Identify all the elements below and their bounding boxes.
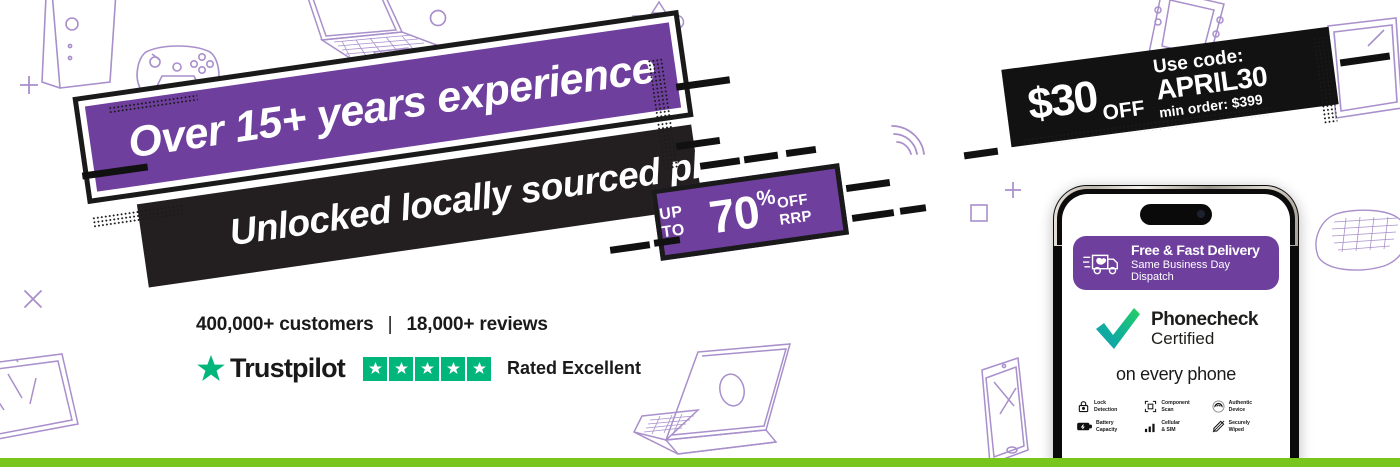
fingerprint-icon: [1212, 400, 1225, 413]
feature-grid: LockDetection ComponentScan AuthenticDev…: [1073, 400, 1279, 433]
plus-mark-doodle: [1003, 180, 1023, 200]
feature-label: LockDetection: [1094, 400, 1117, 413]
feature-item: LockDetection: [1077, 400, 1140, 413]
feature-label: ComponentScan: [1161, 400, 1189, 413]
coupon-off-label: OFF: [1101, 97, 1146, 126]
trustpilot-star-icon: [196, 354, 226, 384]
phone-screen: Free & Fast Delivery Same Business Day D…: [1062, 194, 1290, 467]
smartphone-doodle: [974, 354, 1030, 467]
phonecheck-tick-icon: [1094, 307, 1142, 351]
dash-accent: [852, 209, 895, 222]
feature-item: ComponentScan: [1144, 400, 1207, 413]
trustpilot-rating-text: Rated Excellent: [507, 358, 641, 379]
star-filled: [441, 357, 465, 381]
signal-bars-icon: [1144, 421, 1157, 433]
discount-up-to: UP TO: [658, 200, 709, 242]
discount-number: 70: [706, 188, 761, 240]
circle-doodle: [428, 8, 448, 28]
keyboard-doodle: [1302, 196, 1400, 292]
star-filled: [415, 357, 439, 381]
coupon-code-block: Use code: APRIL30 min order: $399: [1152, 43, 1271, 119]
component-scan-icon: [1144, 400, 1157, 413]
x-mark-doodle: [22, 288, 44, 310]
phonecheck-tagline: on every phone: [1073, 364, 1279, 385]
battery-icon: [1077, 421, 1092, 432]
trustpilot-star-rating: [363, 357, 491, 381]
dash-accent: [900, 204, 927, 215]
trust-stats: 400,000+ customers | 18,000+ reviews: [196, 314, 641, 336]
feature-label: SecurelyWiped: [1229, 420, 1250, 433]
phonecheck-text: Phonecheck Certified: [1151, 310, 1258, 349]
star-filled: [389, 357, 413, 381]
bottom-green-rule: [0, 458, 1400, 467]
stats-separator: |: [388, 314, 393, 335]
delivery-truck-australia-icon: [1083, 249, 1123, 277]
delivery-subtitle: Same Business Day Dispatch: [1131, 259, 1269, 284]
phonecheck-brand: Phonecheck: [1151, 310, 1258, 330]
coupon-amount: $30: [1025, 75, 1099, 128]
delivery-badge: Free & Fast Delivery Same Business Day D…: [1073, 236, 1279, 290]
headline-group: Over 15+ years experience Unlocked local…: [78, 52, 698, 292]
dynamic-island: [1140, 204, 1212, 225]
feature-label: Cellular& SIM: [1161, 420, 1180, 433]
dash-accent: [964, 148, 999, 160]
feature-item: Cellular& SIM: [1144, 420, 1207, 433]
coupon-badge: $30 OFF Use code: APRIL30 min order: $39…: [1001, 27, 1338, 147]
trustpilot-row: Trustpilot Rated Excellent: [196, 353, 641, 384]
feature-item: AuthenticDevice: [1212, 400, 1275, 413]
delivery-title: Free & Fast Delivery: [1131, 243, 1269, 259]
tablet-doodle: [0, 352, 84, 457]
discount-percent: %: [755, 185, 777, 211]
review-count: 18,000+ reviews: [407, 314, 548, 335]
front-camera-icon: [1197, 210, 1205, 218]
open-laptop-doodle: [620, 338, 820, 462]
phonecheck-status: Certified: [1151, 330, 1258, 349]
dash-accent: [846, 179, 891, 192]
phone-frame: Free & Fast Delivery Same Business Day D…: [1053, 185, 1299, 467]
feature-label: BatteryCapacity: [1096, 420, 1117, 433]
customer-count: 400,000+ customers: [196, 314, 374, 335]
plus-mark-doodle: [18, 74, 40, 96]
phonecheck-row: Phonecheck Certified: [1073, 307, 1279, 351]
feature-item: SecurelyWiped: [1212, 420, 1275, 433]
star-filled: [467, 357, 491, 381]
dash-accent: [1340, 53, 1390, 67]
square-doodle: [968, 202, 990, 224]
discount-off-rrp: OFF RRP: [776, 187, 842, 229]
trust-block: 400,000+ customers | 18,000+ reviews Tru…: [196, 314, 641, 384]
feature-item: BatteryCapacity: [1077, 420, 1140, 433]
wifi-doodle: [888, 120, 930, 160]
feature-label: AuthenticDevice: [1229, 400, 1252, 413]
padlock-icon: [1077, 400, 1090, 413]
trustpilot-wordmark: Trustpilot: [230, 353, 345, 384]
delivery-text: Free & Fast Delivery Same Business Day D…: [1131, 243, 1269, 283]
star-filled: [363, 357, 387, 381]
phone-mockup: Free & Fast Delivery Same Business Day D…: [1053, 185, 1299, 467]
promo-banner: Over 15+ years experience Unlocked local…: [0, 0, 1400, 467]
securely-wiped-icon: [1212, 420, 1225, 433]
